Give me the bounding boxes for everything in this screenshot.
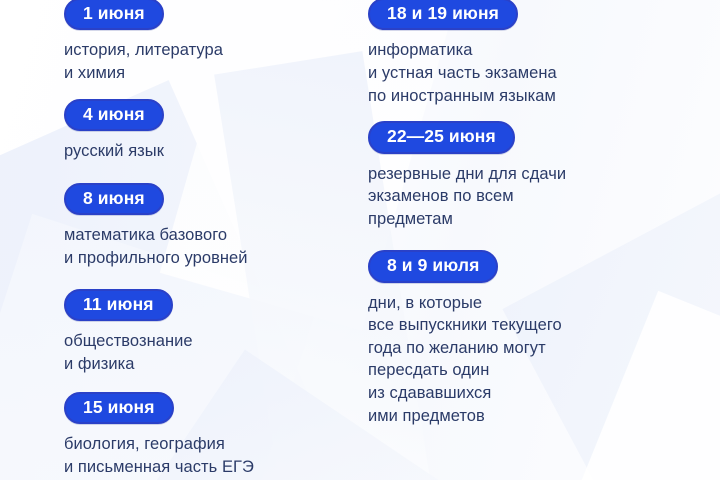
- date-badge[interactable]: 18 и 19 июня: [368, 0, 518, 30]
- date-badge[interactable]: 4 июня: [64, 99, 164, 131]
- schedule-entry: 8 и 9 июля дни, в которые все выпускники…: [368, 250, 720, 427]
- schedule-entry: 8 июня математика базового и профильного…: [64, 183, 355, 270]
- schedule-entry: 1 июня история, литература и химия: [64, 0, 355, 85]
- subjects-text: биология, география и письменная часть Е…: [64, 433, 355, 478]
- schedule-entry: 15 июня биология, география и письменная…: [64, 392, 355, 479]
- schedule-entry: 11 июня обществознание и физика: [64, 289, 355, 376]
- date-badge[interactable]: 15 июня: [64, 392, 174, 424]
- subjects-text: информатика и устная часть экзамена по и…: [368, 39, 720, 107]
- schedule-entry: 4 июня русский язык: [64, 99, 355, 163]
- subjects-text: русский язык: [64, 140, 355, 163]
- date-badge[interactable]: 22—25 июня: [368, 121, 515, 153]
- subjects-text: дни, в которые все выпускники текущего г…: [368, 292, 720, 428]
- subjects-text: математика базового и профильного уровне…: [64, 224, 355, 269]
- date-badge[interactable]: 1 июня: [64, 0, 164, 30]
- schedule-column-left: 1 июня история, литература и химия 4 июн…: [0, 0, 355, 480]
- schedule-column-right: 18 и 19 июня информатика и устная часть …: [355, 0, 720, 480]
- schedule-columns: 1 июня история, литература и химия 4 июн…: [0, 0, 720, 480]
- date-badge[interactable]: 8 и 9 июля: [368, 250, 498, 282]
- date-badge[interactable]: 8 июня: [64, 183, 164, 215]
- subjects-text: обществознание и физика: [64, 330, 355, 375]
- subjects-text: резервные дни для сдачи экзаменов по все…: [368, 163, 720, 231]
- date-badge[interactable]: 11 июня: [64, 289, 173, 321]
- schedule-entry: 18 и 19 июня информатика и устная часть …: [368, 0, 720, 107]
- schedule-entry: 22—25 июня резервные дни для сдачи экзам…: [368, 121, 720, 230]
- subjects-text: история, литература и химия: [64, 39, 355, 84]
- exam-schedule-poster: 1 июня история, литература и химия 4 июн…: [0, 0, 720, 480]
